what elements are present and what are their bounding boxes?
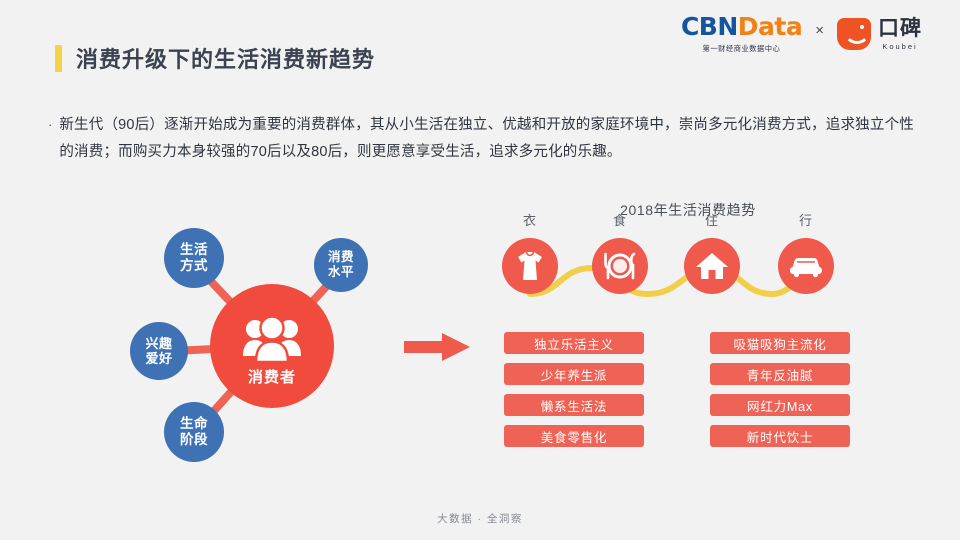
trend-category-label-clothing: 衣 [502,210,558,229]
trend-tag[interactable]: 美食零售化 [504,425,644,447]
trend-node-housing [684,238,740,294]
car-icon [788,254,824,278]
house-icon [695,251,729,281]
body-paragraph: 新生代（90后）逐渐开始成为重要的消费群体，其从小生活在独立、优越和开放的家庭环… [59,112,914,166]
satellite-lifestyle-line1: 生活 [180,242,208,258]
consumer-center-label: 消费者 [248,366,296,387]
trend-category-label-transport: 行 [778,210,834,229]
cbndata-wordmark: CBNData [681,14,802,40]
brand-logo-lockup: CBNData 第一财经商业数据中心 × 口碑 Koubei [681,14,922,54]
trend-tag[interactable]: 青年反油腻 [710,363,850,385]
footer-note: 大数据 · 全洞察 [0,511,960,526]
title-accent-bar [55,45,62,72]
page-title-bar: 消费升级下的生活消费新趋势 [55,42,375,74]
trend-tag[interactable]: 吸猫吸狗主流化 [710,332,850,354]
cbndata-secondary-text: Data [738,12,802,41]
koubei-smiley-icon [837,18,871,50]
trend-tag-column-right: 吸猫吸狗主流化 青年反油腻 网红力Max 新时代饮士 [710,332,850,456]
satellite-interest-line2: 爱好 [145,351,172,366]
koubei-smile-shape [844,26,870,44]
page-title: 消费升级下的生活消费新趋势 [76,42,375,74]
satellite-stage-line1: 生命 [180,416,208,432]
trend-tag-column-left: 独立乐活主义 少年养生派 懒系生活法 美食零售化 [504,332,644,456]
consumer-center-node: 消费者 [210,284,334,408]
koubei-eye-shape [860,25,864,29]
koubei-wordmark: 口碑 Koubei [878,18,922,51]
satellite-node-life-stage: 生命 阶段 [164,402,224,462]
satellite-stage-line2: 阶段 [180,432,208,448]
trend-tag[interactable]: 少年养生派 [504,363,644,385]
trend-tag[interactable]: 网红力Max [710,394,850,416]
trend-node-clothing [502,238,558,294]
trend-tag[interactable]: 独立乐活主义 [504,332,644,354]
slide-canvas: 消费升级下的生活消费新趋势 CBNData 第一财经商业数据中心 × 口碑 Ko… [0,0,960,540]
flow-arrow-icon [404,332,472,362]
body-bullet: · 新生代（90后）逐渐开始成为重要的消费群体，其从小生活在独立、优越和开放的家… [48,112,914,166]
koubei-english-text: Koubei [882,42,917,51]
cbndata-subtitle: 第一财经商业数据中心 [703,43,781,54]
trend-tag[interactable]: 懒系生活法 [504,394,644,416]
satellite-level-line1: 消费 [328,250,354,265]
plate-cutlery-icon [603,251,637,281]
trend-panel: 2018年生活消费趋势 衣 食 住 行 [488,200,888,460]
trend-node-transport [778,238,834,294]
satellite-level-line2: 水平 [328,265,354,280]
dress-icon [515,250,545,282]
people-icon [241,316,303,364]
cbndata-primary-text: CBN [681,12,738,41]
consumer-hub-diagram: 消费者 生活 方式 消费 水平 兴趣 爱好 生命 阶段 [112,222,402,472]
trend-tag[interactable]: 新时代饮士 [710,425,850,447]
trend-category-label-food: 食 [592,210,648,229]
logo-separator-x: × [815,22,824,39]
satellite-lifestyle-line2: 方式 [180,258,208,274]
satellite-node-lifestyle: 生活 方式 [164,228,224,288]
cbndata-logo: CBNData 第一财经商业数据中心 [681,14,802,54]
koubei-logo: 口碑 Koubei [837,18,922,51]
trend-category-label-housing: 住 [684,210,740,229]
satellite-interest-line1: 兴趣 [145,336,172,351]
bullet-marker: · [48,112,52,166]
trend-node-food [592,238,648,294]
satellite-node-interests: 兴趣 爱好 [130,322,188,380]
satellite-node-spending-level: 消费 水平 [314,238,368,292]
koubei-chinese-text: 口碑 [878,18,922,39]
